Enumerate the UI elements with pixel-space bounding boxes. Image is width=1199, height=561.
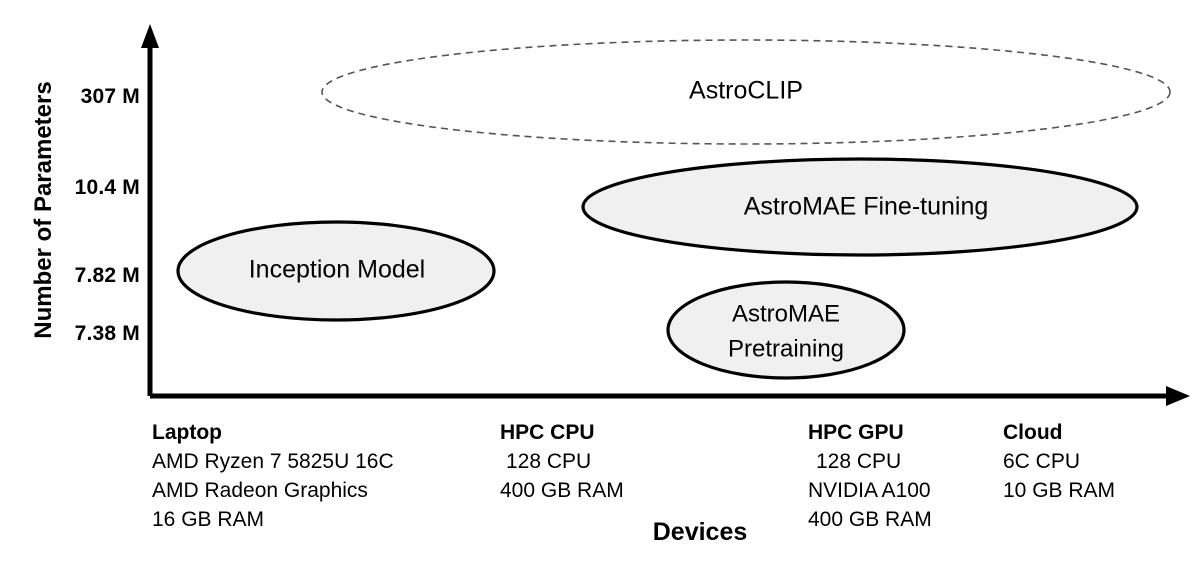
ellipse-astroclip-label: AstroCLIP <box>689 77 803 105</box>
y-tick-label-10-4m: 10.4 M <box>40 176 140 200</box>
x-group-laptop-spec-3: 16 GB RAM <box>152 505 394 534</box>
x-group-hpc-cpu-spec-1: 128 CPU <box>500 447 624 476</box>
x-group-hpc-gpu-spec-1: 128 CPU <box>808 447 932 476</box>
x-group-hpc-gpu-spec-2: NVIDIA A100 <box>808 476 932 505</box>
y-tick-label-307m: 307 M <box>40 85 140 109</box>
x-group-laptop-spec-1: AMD Ryzen 7 5825U 16C <box>152 447 394 476</box>
x-axis-arrowhead <box>1166 386 1190 406</box>
x-group-cloud: Cloud 6C CPU 10 GB RAM <box>1003 418 1115 505</box>
ellipse-astromae-pretraining[interactable] <box>668 282 904 378</box>
x-group-cloud-spec-2: 10 GB RAM <box>1003 476 1115 505</box>
ellipse-astromae-finetuning-label: AstroMAE Fine-tuning <box>744 193 989 221</box>
y-axis-arrowhead <box>141 24 159 48</box>
y-tick-label-7-38m: 7.38 M <box>40 322 140 346</box>
ellipse-astromae-pretraining-label-line2: Pretraining <box>728 335 844 362</box>
x-group-hpc-gpu: HPC GPU 128 CPU NVIDIA A100 400 GB RAM <box>808 418 932 534</box>
x-group-laptop: Laptop AMD Ryzen 7 5825U 16C AMD Radeon … <box>152 418 394 534</box>
x-group-hpc-cpu-name: HPC CPU <box>500 418 624 447</box>
x-group-cloud-name: Cloud <box>1003 418 1115 447</box>
x-group-hpc-cpu: HPC CPU 128 CPU 400 GB RAM <box>500 418 624 505</box>
x-group-laptop-spec-2: AMD Radeon Graphics <box>152 476 394 505</box>
x-group-laptop-name: Laptop <box>152 418 394 447</box>
x-axis-title: Devices <box>600 518 800 547</box>
y-tick-label-7-82m: 7.82 M <box>40 264 140 288</box>
x-group-hpc-gpu-name: HPC GPU <box>808 418 932 447</box>
diagram-canvas: AstroCLIP AstroMAE Fine-tuning Inception… <box>0 0 1199 561</box>
x-group-cloud-spec-1: 6C CPU <box>1003 447 1115 476</box>
x-group-hpc-cpu-spec-2: 400 GB RAM <box>500 476 624 505</box>
ellipse-astromae-pretraining-label-line1: AstroMAE <box>732 300 840 327</box>
x-group-hpc-gpu-spec-3: 400 GB RAM <box>808 505 932 534</box>
y-axis-title: Number of Parameters <box>30 80 58 340</box>
ellipse-inception-model-label: Inception Model <box>249 256 426 284</box>
